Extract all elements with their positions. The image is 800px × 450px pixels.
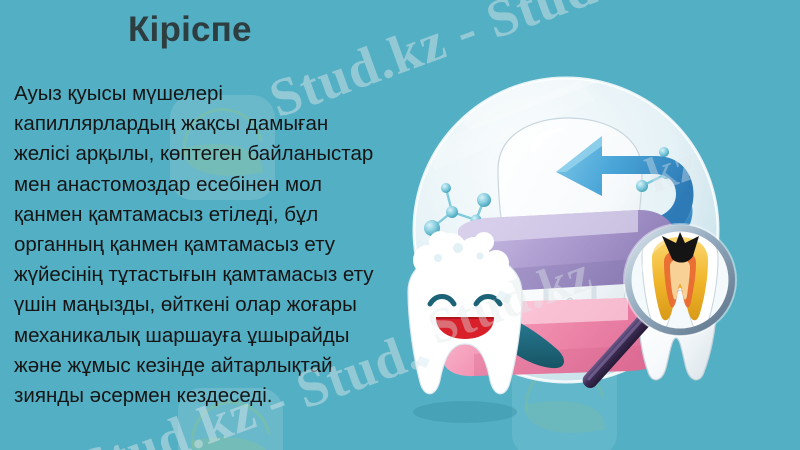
body-text-line: мен анастомоздар есебінен мол	[14, 170, 414, 200]
side-molar-tooth	[638, 274, 716, 380]
eye-left-icon	[430, 297, 454, 305]
body-text-line: үшін маңызды, өйткені олар жоғары	[14, 290, 414, 320]
bubble-sphere	[414, 60, 718, 382]
purple-ribbon	[458, 210, 676, 292]
dental-care-illustration	[380, 60, 800, 450]
body-text-line: және жұмыс кезінде айтарлықтай	[14, 351, 414, 381]
foam-bubbles-icon	[413, 231, 509, 276]
leaf-arc-icon	[509, 349, 620, 450]
leaf-body-icon	[525, 394, 605, 440]
blue-arrow-ribbon	[556, 136, 694, 250]
character-shadow	[413, 401, 517, 423]
slide-body-text: Ауыз қуысы мүшелерікапиллярлардың жақсы …	[14, 79, 414, 411]
body-text-line: капиллярлардың жақсы дамыған	[14, 109, 414, 139]
molecule-chain-icon	[432, 152, 688, 284]
body-text-line: органның қанмен қамтамасыз ету	[14, 230, 414, 260]
toothbrush-icon	[433, 275, 579, 374]
body-text-line: Ауыз қуысы мүшелері	[14, 79, 414, 109]
site-logo-watermark-icon	[512, 352, 617, 450]
magnifying-glass-icon	[578, 224, 736, 392]
cartoon-tooth-character	[408, 231, 522, 394]
smile-icon	[436, 318, 494, 339]
body-text-line: желісі арқылы, көптеген байланыстар	[14, 139, 414, 169]
site-watermark-text: Stud.kz	[420, 244, 599, 357]
leaf-body-icon	[191, 430, 271, 450]
slide-title: Кіріспе	[128, 8, 252, 52]
body-text-line: қанмен қамтамасыз етіледі, бұл	[14, 200, 414, 230]
body-text-line: зиянды әсермен кездеседі.	[14, 381, 414, 411]
eye-right-icon	[476, 297, 500, 305]
molecule-atoms-icon	[424, 147, 694, 293]
site-watermark-text: kz	[638, 132, 707, 204]
presentation-slide: Кіріспе Ауыз қуысы мүшелерікапиллярларды…	[0, 0, 800, 450]
molar-tooth-graphic	[498, 118, 646, 366]
body-text-line: жүйесінің тұтастығын қамтамасыз ету	[14, 260, 414, 290]
body-text-line: механикалық шаршауға ұшырайды	[14, 321, 414, 351]
pink-ribbon	[442, 298, 668, 376]
